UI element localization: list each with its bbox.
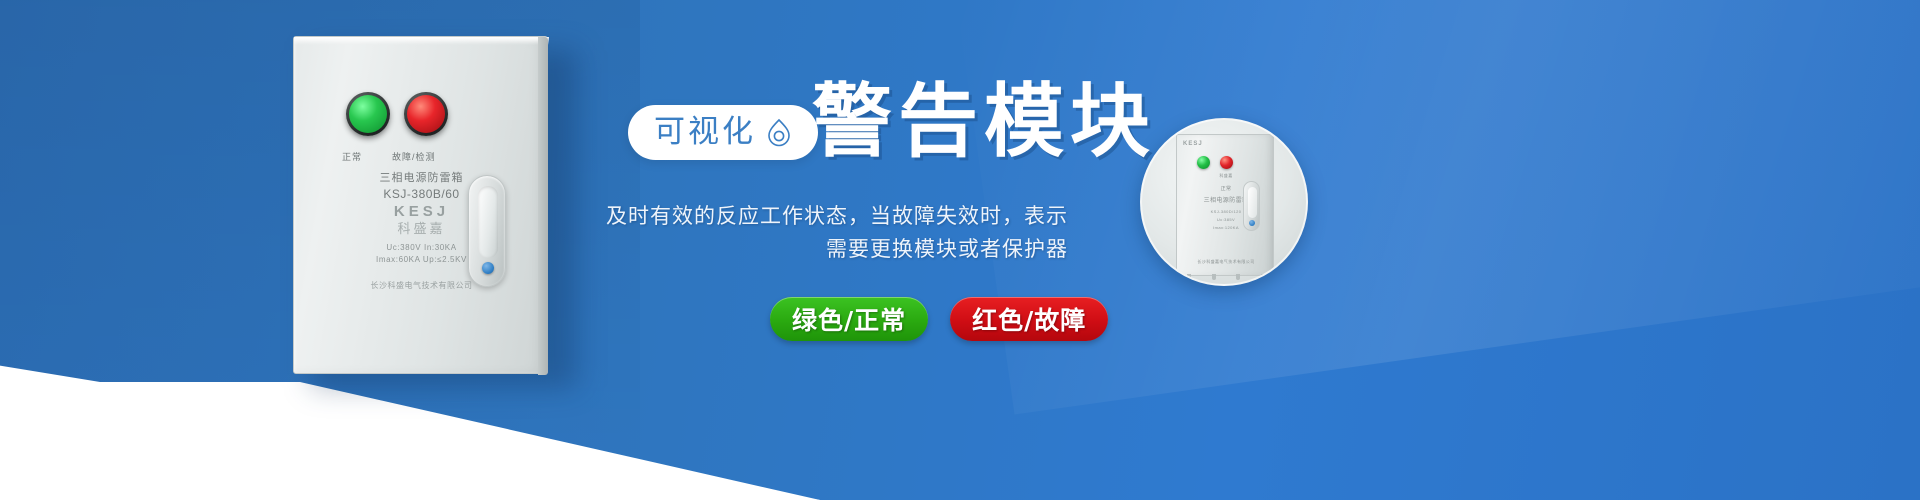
inset-product-name: 三相电源防雷箱 [1177, 195, 1275, 204]
inset-handle-slot [1248, 187, 1257, 218]
inset-door-handle [1243, 181, 1260, 231]
inset-foot [1187, 274, 1191, 280]
product-model: KSJ-380B/60 [294, 187, 549, 201]
inset-brand-name: KESJ [1183, 141, 1203, 147]
label-fault: 故障/检测 [392, 150, 436, 163]
inset-foot [1212, 274, 1216, 280]
product-company-footer: 长沙科盛电气技术有限公司 [294, 280, 549, 291]
inset-lock-knob [1249, 220, 1255, 226]
inset-led-labels: 正常 [1177, 185, 1275, 192]
enclosure-top-highlight [294, 37, 549, 45]
inset-foot [1236, 274, 1240, 280]
product-name-line1: 三相电源防雷箱 [294, 169, 549, 185]
inset-indicator-red [1220, 156, 1233, 169]
visualization-pill-label: 可视化 [654, 117, 756, 148]
background-sheen [956, 0, 1920, 415]
visualization-pill: 可视化 [628, 105, 818, 160]
status-badge-normal[interactable]: 绿色/正常 [770, 297, 928, 341]
inset-brand-cn: 科盛嘉 [1177, 173, 1275, 179]
banner-heading: 警告模块 [812, 82, 1156, 162]
status-badge-group: 绿色/正常 红色/故障 [770, 297, 1108, 341]
white-bottom-band [0, 382, 1920, 500]
inset-company-footer: 长沙科盛嘉电气技术有限公司 [1177, 259, 1275, 265]
subtitle-line-1: 及时有效的反应工作状态，当故障失效时，表示 [428, 200, 1068, 233]
inset-indicator-green [1197, 156, 1210, 169]
inset-product-model: KSJ-380D/120 [1177, 209, 1275, 214]
location-pin-icon [766, 118, 792, 148]
promo-banner: 正常 故障/检测 三相电源防雷箱 KSJ-380B/60 KESJ 科盛嘉 Uc… [0, 0, 1920, 500]
inset-spec-line1: Uc:385V [1177, 217, 1275, 222]
inset-mount-feet [1177, 274, 1275, 280]
subtitle-line-2: 需要更换模块或者保护器 [428, 233, 1068, 266]
inset-enclosure-body: KESJ 科盛嘉 正常 三相电源防雷箱 KSJ-380D/120 Uc:385V… [1176, 134, 1274, 276]
indicator-red-lamp [407, 95, 445, 133]
banner-subtitle: 及时有效的反应工作状态，当故障失效时，表示 需要更换模块或者保护器 [428, 200, 1068, 265]
inset-foot [1261, 274, 1265, 280]
inset-spec-line2: Imax:120KA [1177, 225, 1275, 230]
indicator-green-lamp [349, 95, 387, 133]
label-normal: 正常 [342, 150, 362, 163]
product-photo-inset: KESJ 科盛嘉 正常 三相电源防雷箱 KSJ-380D/120 Uc:385V… [1140, 118, 1308, 286]
status-badge-fault[interactable]: 红色/故障 [950, 297, 1108, 341]
